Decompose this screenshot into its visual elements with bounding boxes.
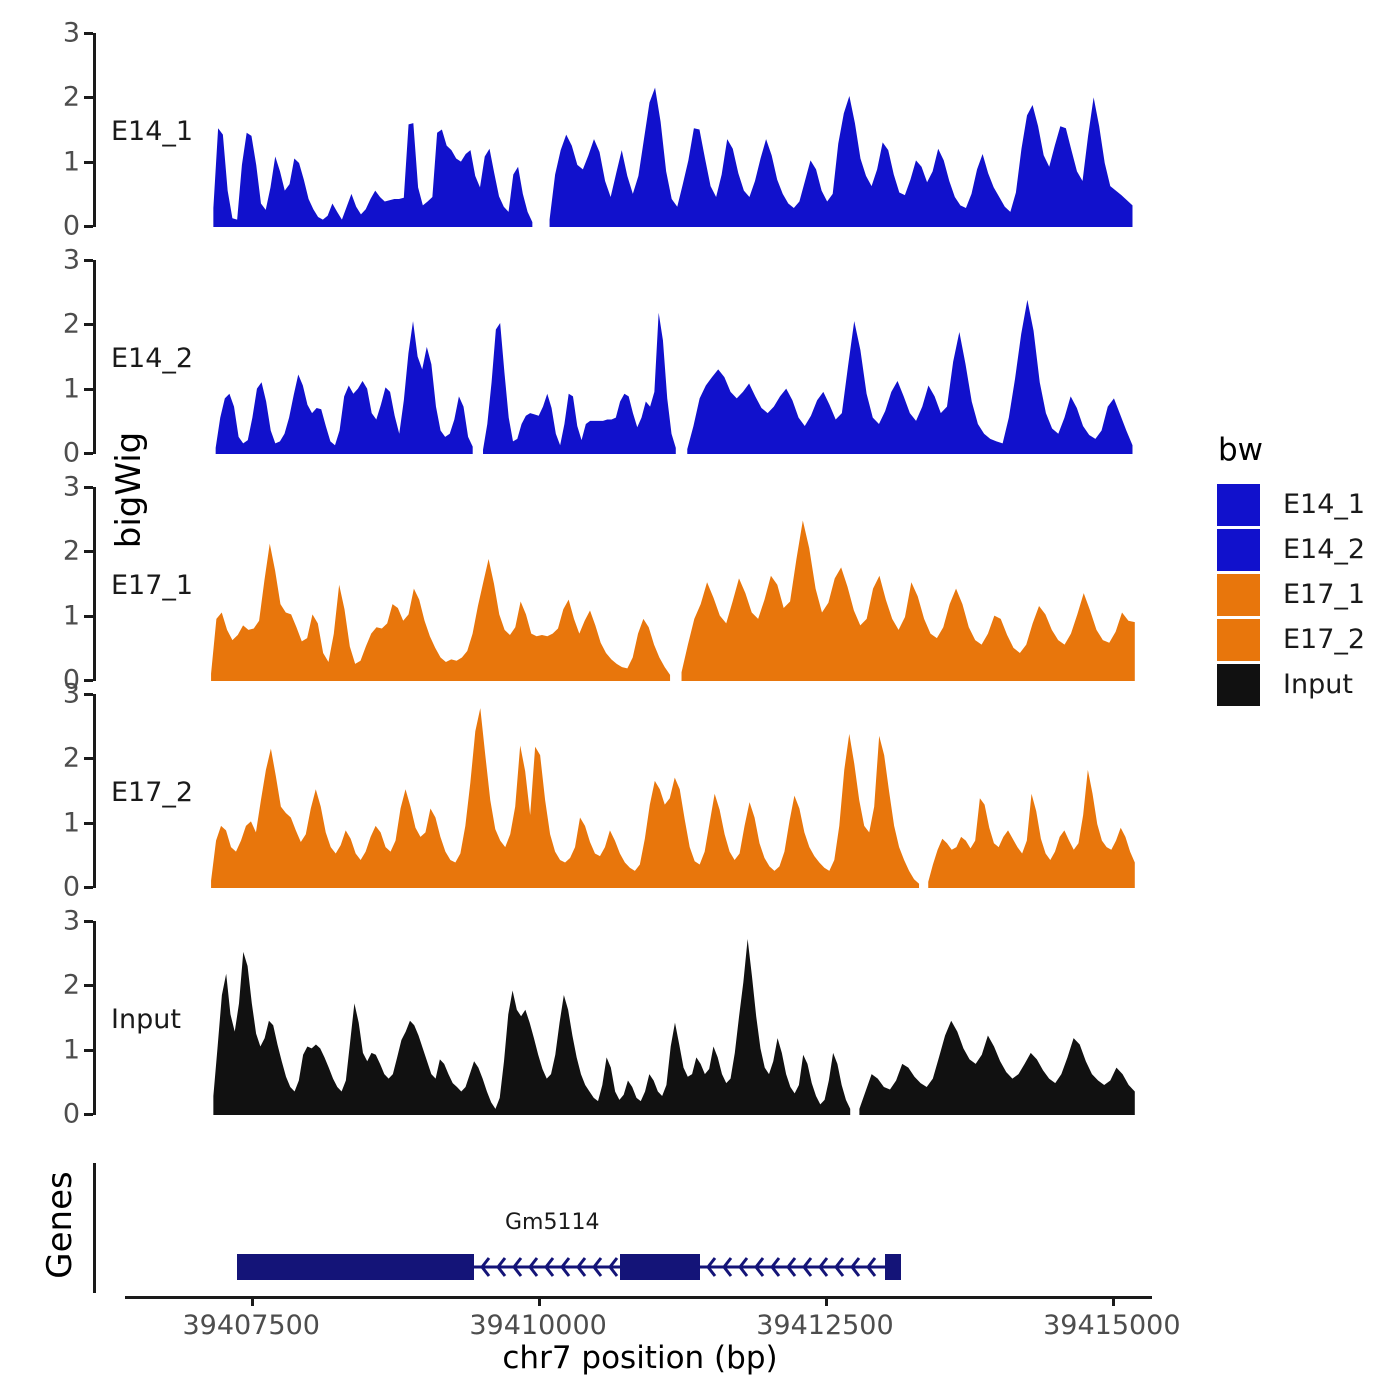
y-tick-label: 1 <box>63 373 80 404</box>
y-tick <box>84 225 93 228</box>
y-tick <box>84 920 93 923</box>
x-tick <box>825 1296 828 1306</box>
legend: bw E14_1E14_2E17_1E17_2Input <box>1216 432 1365 707</box>
y-tick-label: 3 <box>63 679 80 710</box>
x-axis-line <box>125 1296 1152 1299</box>
y-tick-label: 0 <box>63 211 80 242</box>
y-tick-label: 1 <box>63 1034 80 1065</box>
x-tick <box>1112 1296 1115 1306</box>
y-tick <box>84 1113 93 1116</box>
legend-item-e14_2[interactable]: E14_2 <box>1216 527 1365 572</box>
legend-item-label: E14_1 <box>1283 489 1365 520</box>
y-tick <box>84 96 93 99</box>
x-tick-label: 39412500 <box>756 1310 893 1341</box>
y-tick-label: 0 <box>63 1099 80 1130</box>
y-tick-label: 1 <box>63 807 80 838</box>
y-tick <box>84 615 93 618</box>
x-tick <box>251 1296 254 1306</box>
x-tick-label: 39407500 <box>183 1310 320 1341</box>
legend-key-swatch <box>1216 663 1261 707</box>
signal-panel-e17_2: 0123E17_2 <box>93 694 1152 887</box>
legend-item-label: Input <box>1283 669 1353 700</box>
genes-track-panel: Gm5114 <box>93 1163 1153 1293</box>
legend-item-e17_1[interactable]: E17_1 <box>1216 572 1365 617</box>
legend-item-label: E14_2 <box>1283 534 1365 565</box>
y-tick <box>84 388 93 391</box>
legend-key-swatch <box>1216 483 1261 527</box>
y-tick <box>84 259 93 262</box>
waveform-e14_2 <box>93 260 1152 455</box>
y-tick <box>84 984 93 987</box>
y-tick <box>84 1049 93 1052</box>
legend-item-label: E17_1 <box>1283 579 1365 610</box>
y-tick <box>84 822 93 825</box>
y-tick-label: 3 <box>63 472 80 503</box>
signal-panel-e14_1: 0123E14_1 <box>93 33 1152 226</box>
y-tick <box>84 679 93 682</box>
signal-panel-e17_1: 0123E17_1 <box>93 487 1152 680</box>
gene-model <box>93 1163 1153 1293</box>
y-tick-label: 1 <box>63 600 80 631</box>
y-tick <box>84 32 93 35</box>
y-tick-label: 2 <box>63 536 80 567</box>
waveform-e17_2 <box>93 694 1152 889</box>
y-tick-label: 3 <box>63 18 80 49</box>
x-tick-label: 39415000 <box>1043 1310 1180 1341</box>
y-tick <box>84 693 93 696</box>
waveform-e14_1 <box>93 33 1152 228</box>
signal-panel-e14_2: 0123E14_2 <box>93 260 1152 453</box>
y-tick-label: 2 <box>63 82 80 113</box>
y-tick <box>84 323 93 326</box>
legend-item-e14_1[interactable]: E14_1 <box>1216 482 1365 527</box>
waveform-input <box>93 921 1152 1116</box>
y-tick-label: 2 <box>63 743 80 774</box>
y-tick <box>84 486 93 489</box>
y-tick <box>84 757 93 760</box>
legend-item-e17_2[interactable]: E17_2 <box>1216 617 1365 662</box>
signal-panel-input: 0123Input <box>93 921 1152 1114</box>
legend-items: E14_1E14_2E17_1E17_2Input <box>1216 482 1365 707</box>
legend-title: bw <box>1218 432 1365 468</box>
genes-axis-title: Genes <box>40 1110 80 1340</box>
y-tick <box>84 452 93 455</box>
y-tick <box>84 161 93 164</box>
y-tick-label: 2 <box>63 970 80 1001</box>
y-tick-label: 3 <box>63 245 80 276</box>
legend-key-swatch <box>1216 573 1261 617</box>
y-tick-label: 2 <box>63 309 80 340</box>
legend-key-swatch <box>1216 528 1261 572</box>
x-tick <box>538 1296 541 1306</box>
y-tick-label: 3 <box>63 906 80 937</box>
legend-item-label: E17_2 <box>1283 624 1365 655</box>
x-tick-label: 39410000 <box>469 1310 606 1341</box>
y-tick-label: 1 <box>63 146 80 177</box>
legend-key-swatch <box>1216 618 1261 662</box>
y-tick-label: 0 <box>63 438 80 469</box>
legend-item-input[interactable]: Input <box>1216 662 1365 707</box>
y-tick <box>84 886 93 889</box>
waveform-e17_1 <box>93 487 1152 682</box>
y-tick <box>84 550 93 553</box>
y-tick-label: 0 <box>63 872 80 903</box>
x-axis-title: chr7 position (bp) <box>125 1340 1155 1376</box>
